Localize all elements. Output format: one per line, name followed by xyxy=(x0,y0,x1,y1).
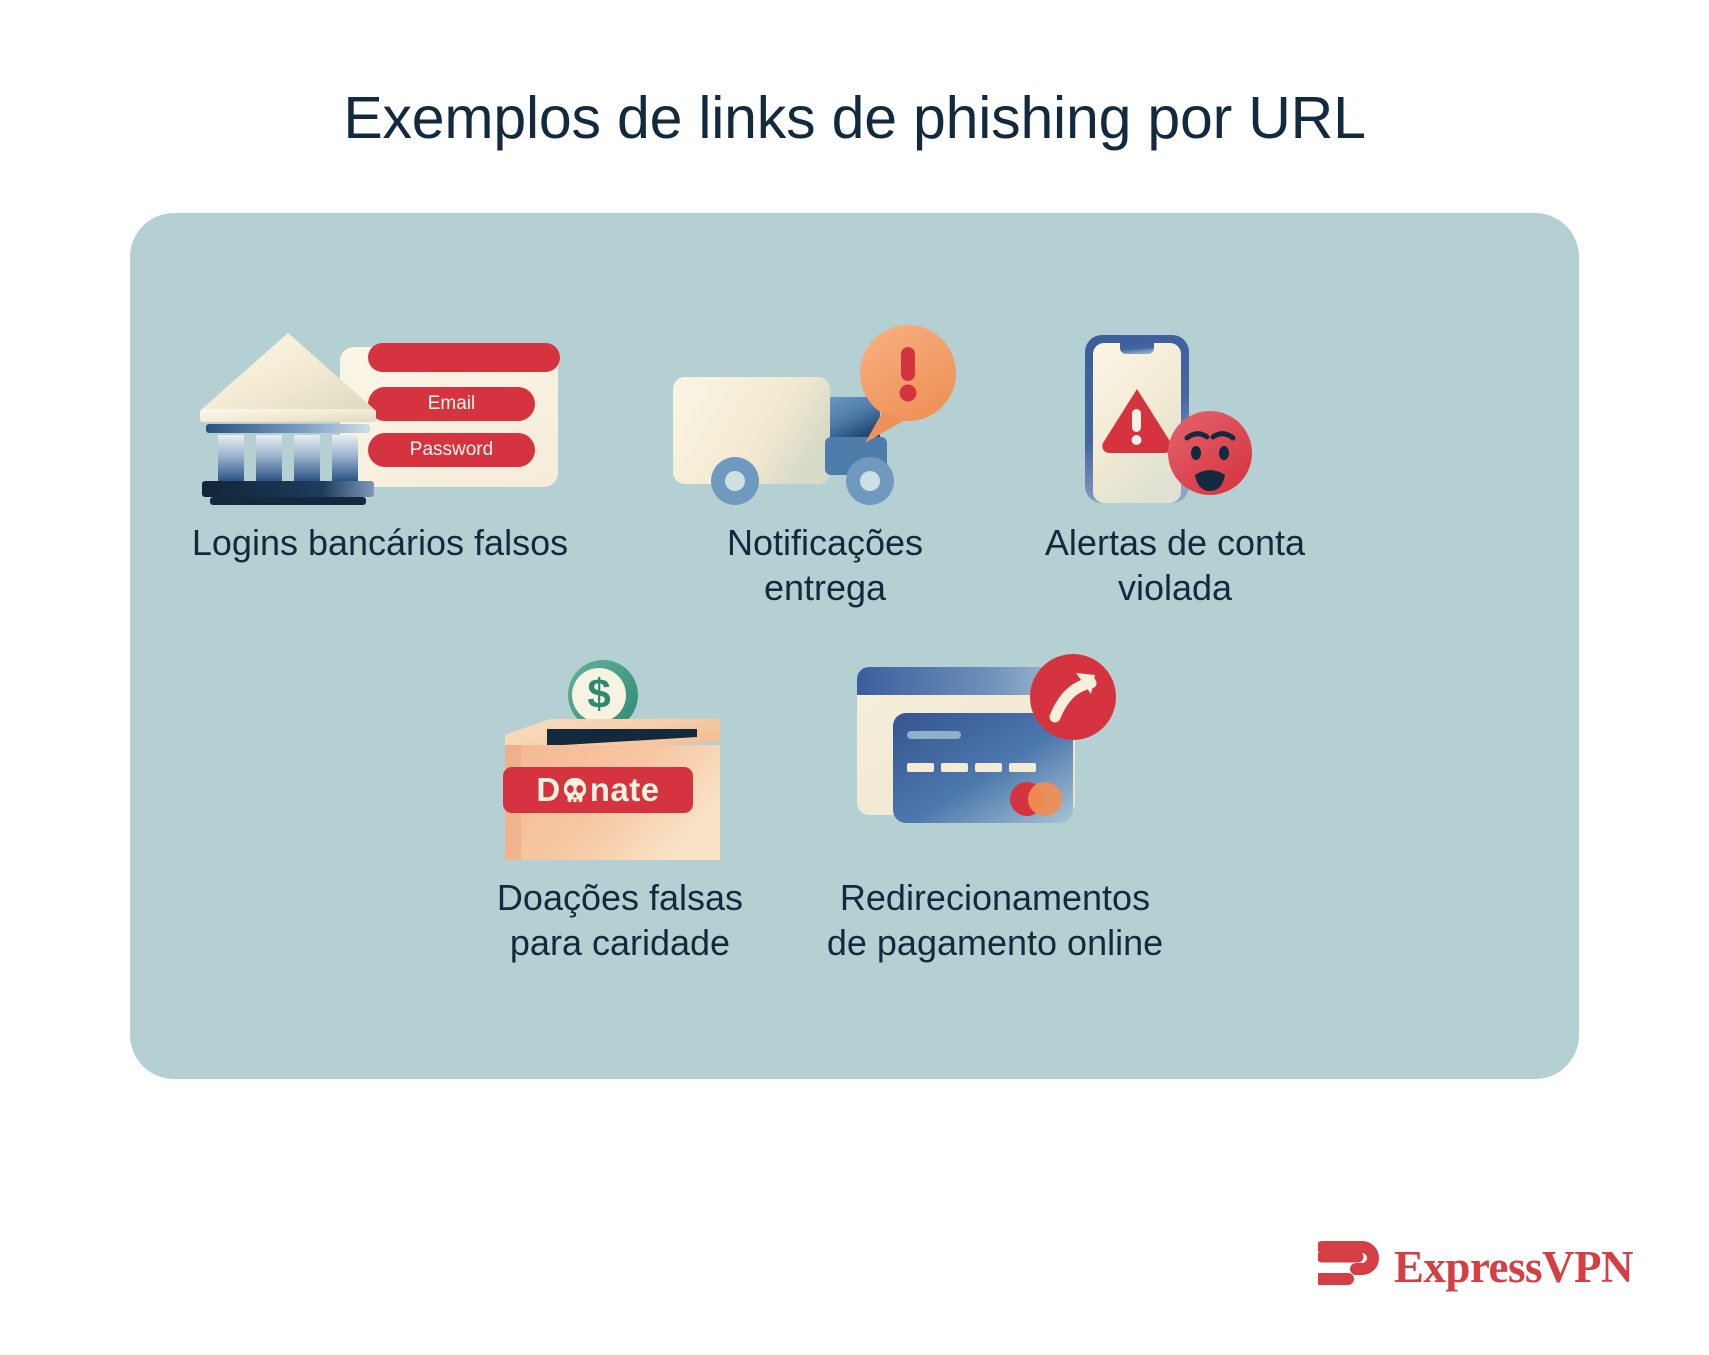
browser-credit-card-redirect-icon xyxy=(845,645,1145,865)
donate-prefix: D xyxy=(536,771,560,809)
infographic-page: Exemplos de links de phishing por URL Em… xyxy=(0,0,1709,1355)
donation-box-svg: $ xyxy=(475,645,765,865)
bank-building-icon xyxy=(200,325,376,507)
exclamation-mark-icon xyxy=(665,325,985,510)
svg-text:$: $ xyxy=(587,670,610,717)
item-fake-charity-donations: $ D xyxy=(450,645,790,965)
donation-box-skull-icon: $ D xyxy=(475,645,765,865)
item-label: Alertas de conta violada xyxy=(1045,520,1305,610)
payment-svg xyxy=(845,645,1145,865)
phone-warning-sad-face-icon xyxy=(1025,325,1325,510)
item-fake-bank-logins: Email Password xyxy=(160,325,600,565)
password-field[interactable]: Password xyxy=(368,433,535,467)
phone-svg xyxy=(1025,325,1325,510)
bank-login-form-icon: Email Password xyxy=(200,325,560,510)
item-label: Redirecionamentos de pagamento online xyxy=(827,875,1163,965)
login-form-header-bar xyxy=(368,343,560,372)
item-breached-account-alerts: Alertas de conta violada xyxy=(1000,325,1350,610)
email-field[interactable]: Email xyxy=(368,387,535,421)
expressvpn-e-mark-icon xyxy=(1318,1241,1380,1293)
skull-icon xyxy=(562,775,589,805)
item-online-payment-redirects: Redirecionamentos de pagamento online xyxy=(790,645,1200,965)
item-label: Notificações entrega xyxy=(727,520,923,610)
page-title: Exemplos de links de phishing por URL xyxy=(0,86,1709,151)
item-label: Logins bancários falsos xyxy=(192,520,568,565)
donate-banner: D nate xyxy=(503,767,693,813)
donate-suffix: nate xyxy=(590,771,660,809)
item-label: Doações falsas para caridade xyxy=(497,875,743,965)
expressvpn-brand[interactable]: ExpressVPN xyxy=(1318,1241,1633,1293)
delivery-truck-alert-icon xyxy=(665,325,985,510)
brand-name: ExpressVPN xyxy=(1394,1241,1633,1293)
item-delivery-notifications: Notificações entrega xyxy=(650,325,1000,610)
